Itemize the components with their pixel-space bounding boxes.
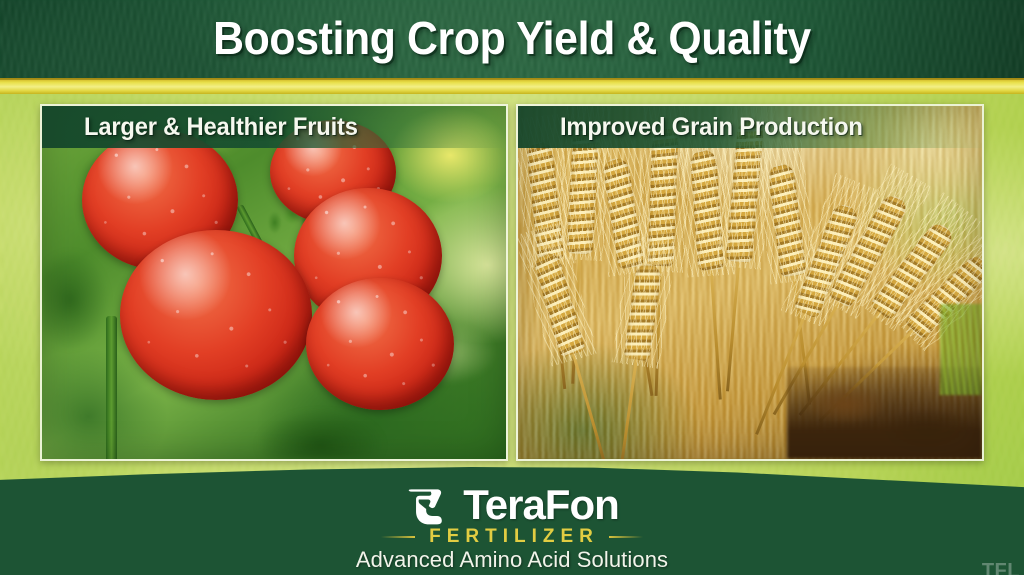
tomato-stem xyxy=(106,316,117,461)
tomatoes-on-vine-photo xyxy=(42,106,506,459)
footer-content: TeraFon FERTILIZER Advanced Amino Acid S… xyxy=(0,453,1024,575)
brand-sub-label: FERTILIZER xyxy=(425,527,599,546)
gold-divider-rule xyxy=(0,78,1024,94)
tomato-fruit xyxy=(306,278,454,410)
tomato-fruit xyxy=(120,230,312,400)
brand-tagline: Advanced Amino Acid Solutions xyxy=(356,549,668,571)
page-title: Boosting Crop Yield & Quality xyxy=(36,0,988,78)
panels-row: Larger & Healthier Fruits xyxy=(40,104,984,461)
corner-watermark: TFL xyxy=(982,561,1020,575)
panel-grain: Improved Grain Production xyxy=(516,104,984,461)
header-banner: Boosting Crop Yield & Quality xyxy=(0,0,1024,78)
grass-tuft xyxy=(940,304,982,396)
brand-sub-row: FERTILIZER xyxy=(381,527,643,546)
caption-band-fruits: Larger & Healthier Fruits xyxy=(42,106,506,148)
sub-rule-right xyxy=(609,536,643,538)
brand-lockup: TeraFon xyxy=(405,482,619,528)
wheat-ear xyxy=(623,263,662,362)
terafon-leaf-r-logo-icon xyxy=(405,482,451,528)
panel-caption-grain: Improved Grain Production xyxy=(560,113,863,142)
panel-fruits: Larger & Healthier Fruits xyxy=(40,104,508,461)
brand-name: TeraFon xyxy=(463,484,619,526)
panel-caption-fruits: Larger & Healthier Fruits xyxy=(84,113,358,142)
poster-root: Boosting Crop Yield & Quality xyxy=(0,0,1024,575)
sub-rule-left xyxy=(381,536,415,538)
caption-band-grain: Improved Grain Production xyxy=(518,106,982,148)
footer-brand-bar: TeraFon FERTILIZER Advanced Amino Acid S… xyxy=(0,453,1024,575)
wheat-field-photo xyxy=(518,106,982,459)
